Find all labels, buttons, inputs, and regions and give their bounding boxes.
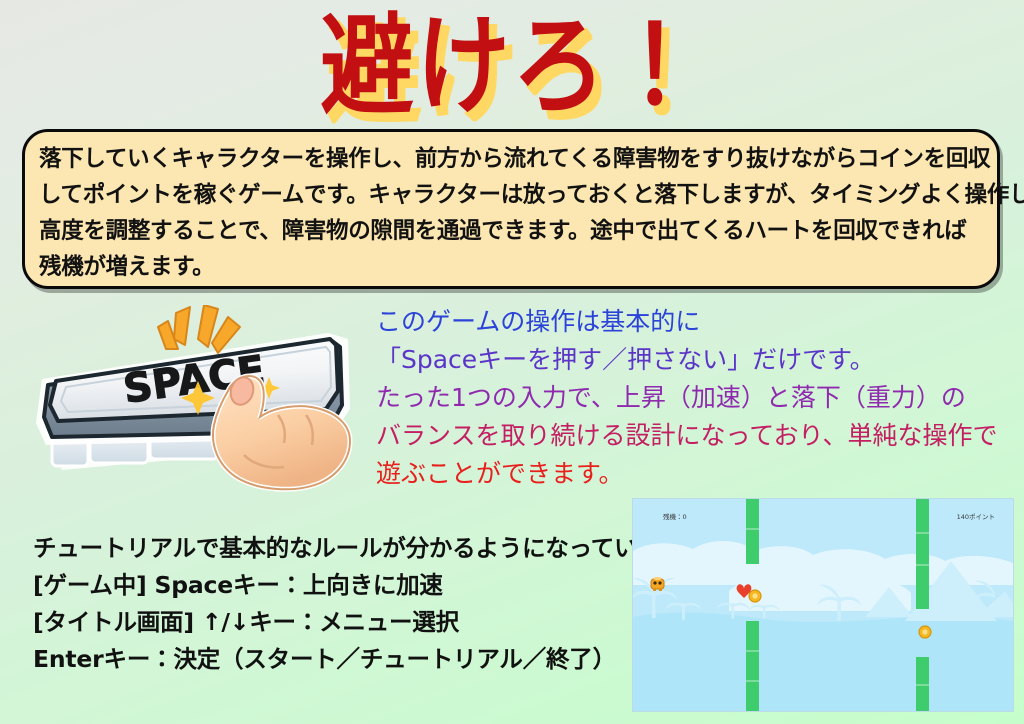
- description-box: 落下していくキャラクターを操作し、前方から流れてくる障害物をすり抜けながらコイン…: [22, 129, 1000, 289]
- description-line: 落下していくキャラクターを操作し、前方から流れてくる障害物をすり抜けながらコイン…: [39, 141, 983, 177]
- control-explanation-line: このゲームの操作は基本的に: [376, 303, 1006, 341]
- coin-item: [919, 626, 931, 638]
- control-explanation-line: バランスを取り続ける設計になっており、単純な操作で: [376, 417, 1006, 455]
- description-line: してポイントを稼ぐゲームです。キャラクターは放っておくと落下しますが、タイミング…: [39, 177, 983, 213]
- control-explanation-text: このゲームの操作は基本的に 「Spaceキーを押す／押さない」だけです。 たった…: [376, 303, 1006, 493]
- key-instructions-block: チュートリアルで基本的なルールが分かるようになっています。 [ゲーム中] Spa…: [33, 530, 633, 678]
- control-explanation-line: たった1つの入力で、上昇（加速）と落下（重力）の: [376, 379, 1006, 417]
- control-explanation-line: 「Spaceキーを押す／押さない」だけです。: [376, 341, 1006, 379]
- pipe-top: [746, 499, 759, 564]
- key-instruction-line: Enterキー：決定（スタート／チュートリアル／終了）: [33, 641, 633, 678]
- pipe-bottom: [916, 657, 929, 711]
- hud-lives-label: 残機：0: [663, 511, 687, 521]
- game-screenshot: 残機：0 140ポイント: [632, 498, 1014, 712]
- player-character: [651, 577, 664, 591]
- page-title: 避けろ！: [320, 8, 704, 125]
- control-explanation-line: 遊ぶことができます。: [376, 455, 1006, 493]
- key-instruction-line: チュートリアルで基本的なルールが分かるようになっています。: [33, 530, 633, 567]
- coin-item: [749, 590, 761, 602]
- pipe-top: [916, 499, 929, 609]
- key-instruction-line: [ゲーム中] Spaceキー：上向きに加速: [33, 567, 633, 604]
- hud-points-label: 140ポイント: [957, 511, 995, 521]
- title-area: 避けろ！: [0, 8, 1024, 107]
- impact-spark-icon: [158, 305, 240, 353]
- space-key-illustration: SPACE: [28, 305, 358, 495]
- pipe-bottom: [746, 621, 759, 711]
- poster-canvas: 避けろ！ 落下していくキャラクターを操作し、前方から流れてくる障害物をすり抜けな…: [0, 0, 1024, 724]
- description-line: 高度を調整することで、障害物の隙間を通過できます。途中で出てくるハートを回収でき…: [39, 213, 983, 249]
- description-line: 残機が増えます。: [39, 249, 983, 285]
- key-instruction-line: [タイトル画面] ↑/↓キー：メニュー選択: [33, 604, 633, 641]
- ground-layer: [633, 610, 1013, 711]
